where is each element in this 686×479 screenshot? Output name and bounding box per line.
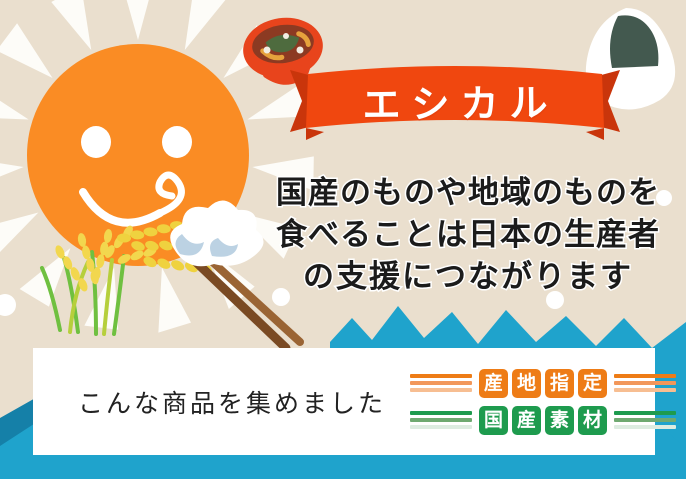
chip-sanchi-4: 定 <box>578 369 607 398</box>
stripes-right-green <box>614 411 676 429</box>
chip-kokusan-4: 材 <box>578 406 607 435</box>
chip-sanchi-1: 産 <box>479 369 508 398</box>
ethical-ribbon: エシカル <box>290 62 620 142</box>
chip-sanchi-3: 指 <box>545 369 574 398</box>
ribbon-label: エシカル <box>290 60 621 139</box>
headline-text: 国産のものや地域のものを 食べることは日本の生産者 の支援につながります <box>262 172 674 298</box>
stripes-right-orange <box>614 374 676 392</box>
stripes-left-green <box>410 411 472 429</box>
panel-caption: こんな商品を集めました <box>78 384 386 420</box>
badge-group: 産 地 指 定 国 産 <box>410 369 676 435</box>
chips-kokusan-sozai: 国 産 素 材 <box>479 406 607 435</box>
badge-row-kokusan-sozai: 国 産 素 材 <box>410 406 676 435</box>
stripes-left-orange <box>410 374 472 392</box>
chips-sanchi-shitei: 産 地 指 定 <box>479 369 607 398</box>
headline-line-2: 食べることは日本の生産者 <box>262 214 674 256</box>
badge-row-sanchi-shitei: 産 地 指 定 <box>410 369 676 398</box>
chip-kokusan-3: 素 <box>545 406 574 435</box>
water-strip <box>0 462 686 479</box>
ethical-promo-banner: エシカル 国産のものや地域のものを 食べることは日本の生産者 の支援につながりま… <box>0 0 686 479</box>
headline-line-3: の支援につながります <box>262 256 674 298</box>
product-collection-panel: こんな商品を集めました 産 地 指 定 <box>33 348 655 455</box>
chip-kokusan-1: 国 <box>479 406 508 435</box>
chip-sanchi-2: 地 <box>512 369 541 398</box>
chip-kokusan-2: 産 <box>512 406 541 435</box>
headline-line-1: 国産のものや地域のものを <box>262 172 674 214</box>
